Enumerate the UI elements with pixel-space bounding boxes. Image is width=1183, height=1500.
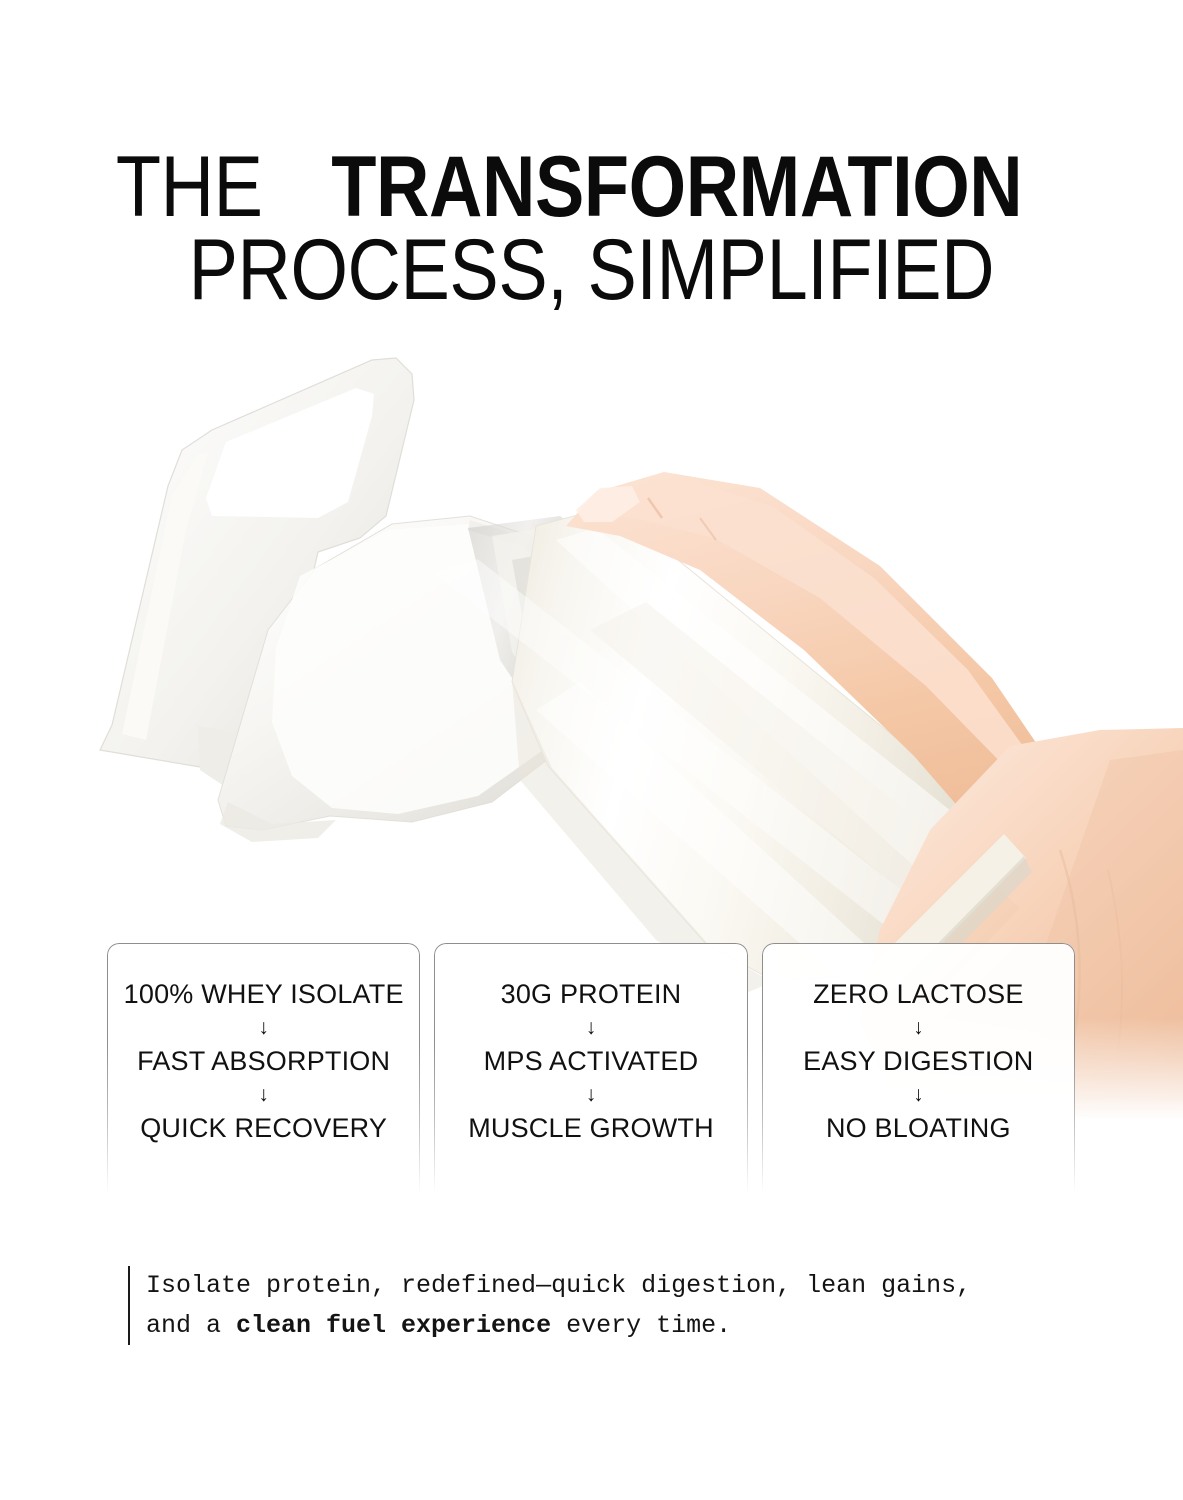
feature-card-protein-content[interactable]: 30G PROTEIN ↓ MPS ACTIVATED ↓ MUSCLE GRO…	[434, 943, 747, 1193]
footer-caption: Isolate protein, redefined—quick digesti…	[128, 1266, 1028, 1345]
card-step-1: 30G PROTEIN	[434, 981, 747, 1008]
headline-word-transformation: TRANSFORMATION	[331, 148, 1022, 227]
down-arrow-icon: ↓	[762, 1017, 1075, 1038]
page-title: THE TRANSFORMATION PROCESS, SIMPLIFIED	[0, 148, 1183, 310]
card-step-2: MPS ACTIVATED	[434, 1048, 747, 1075]
card-step-3: NO BLOATING	[762, 1115, 1075, 1142]
card-step-2: EASY DIGESTION	[762, 1048, 1075, 1075]
down-arrow-icon: ↓	[762, 1084, 1075, 1105]
caption-text: Isolate protein, redefined—quick digesti…	[146, 1266, 1028, 1345]
feature-card-whey-isolate[interactable]: 100% WHEY ISOLATE ↓ FAST ABSORPTION ↓ QU…	[107, 943, 420, 1193]
card-step-3: QUICK RECOVERY	[107, 1115, 420, 1142]
headline-line-1: THE TRANSFORMATION	[0, 148, 1183, 227]
caption-part-2: every time.	[551, 1311, 731, 1340]
feature-card-row: 100% WHEY ISOLATE ↓ FAST ABSORPTION ↓ QU…	[107, 943, 1075, 1193]
card-step-2: FAST ABSORPTION	[107, 1048, 420, 1075]
headline-line-2: PROCESS, SIMPLIFIED	[189, 231, 995, 310]
caption-emphasis: clean fuel experience	[236, 1311, 551, 1340]
feature-card-lactose-free[interactable]: ZERO LACTOSE ↓ EASY DIGESTION ↓ NO BLOAT…	[762, 943, 1075, 1193]
promo-graphic-root: THE TRANSFORMATION PROCESS, SIMPLIFIED	[0, 0, 1183, 1500]
card-step-1: ZERO LACTOSE	[762, 981, 1075, 1008]
card-step-3: MUSCLE GROWTH	[434, 1115, 747, 1142]
down-arrow-icon: ↓	[107, 1084, 420, 1105]
card-step-1: 100% WHEY ISOLATE	[107, 981, 420, 1008]
down-arrow-icon: ↓	[434, 1017, 747, 1038]
down-arrow-icon: ↓	[434, 1084, 747, 1105]
headline-word-the: THE	[116, 148, 263, 227]
down-arrow-icon: ↓	[107, 1017, 420, 1038]
